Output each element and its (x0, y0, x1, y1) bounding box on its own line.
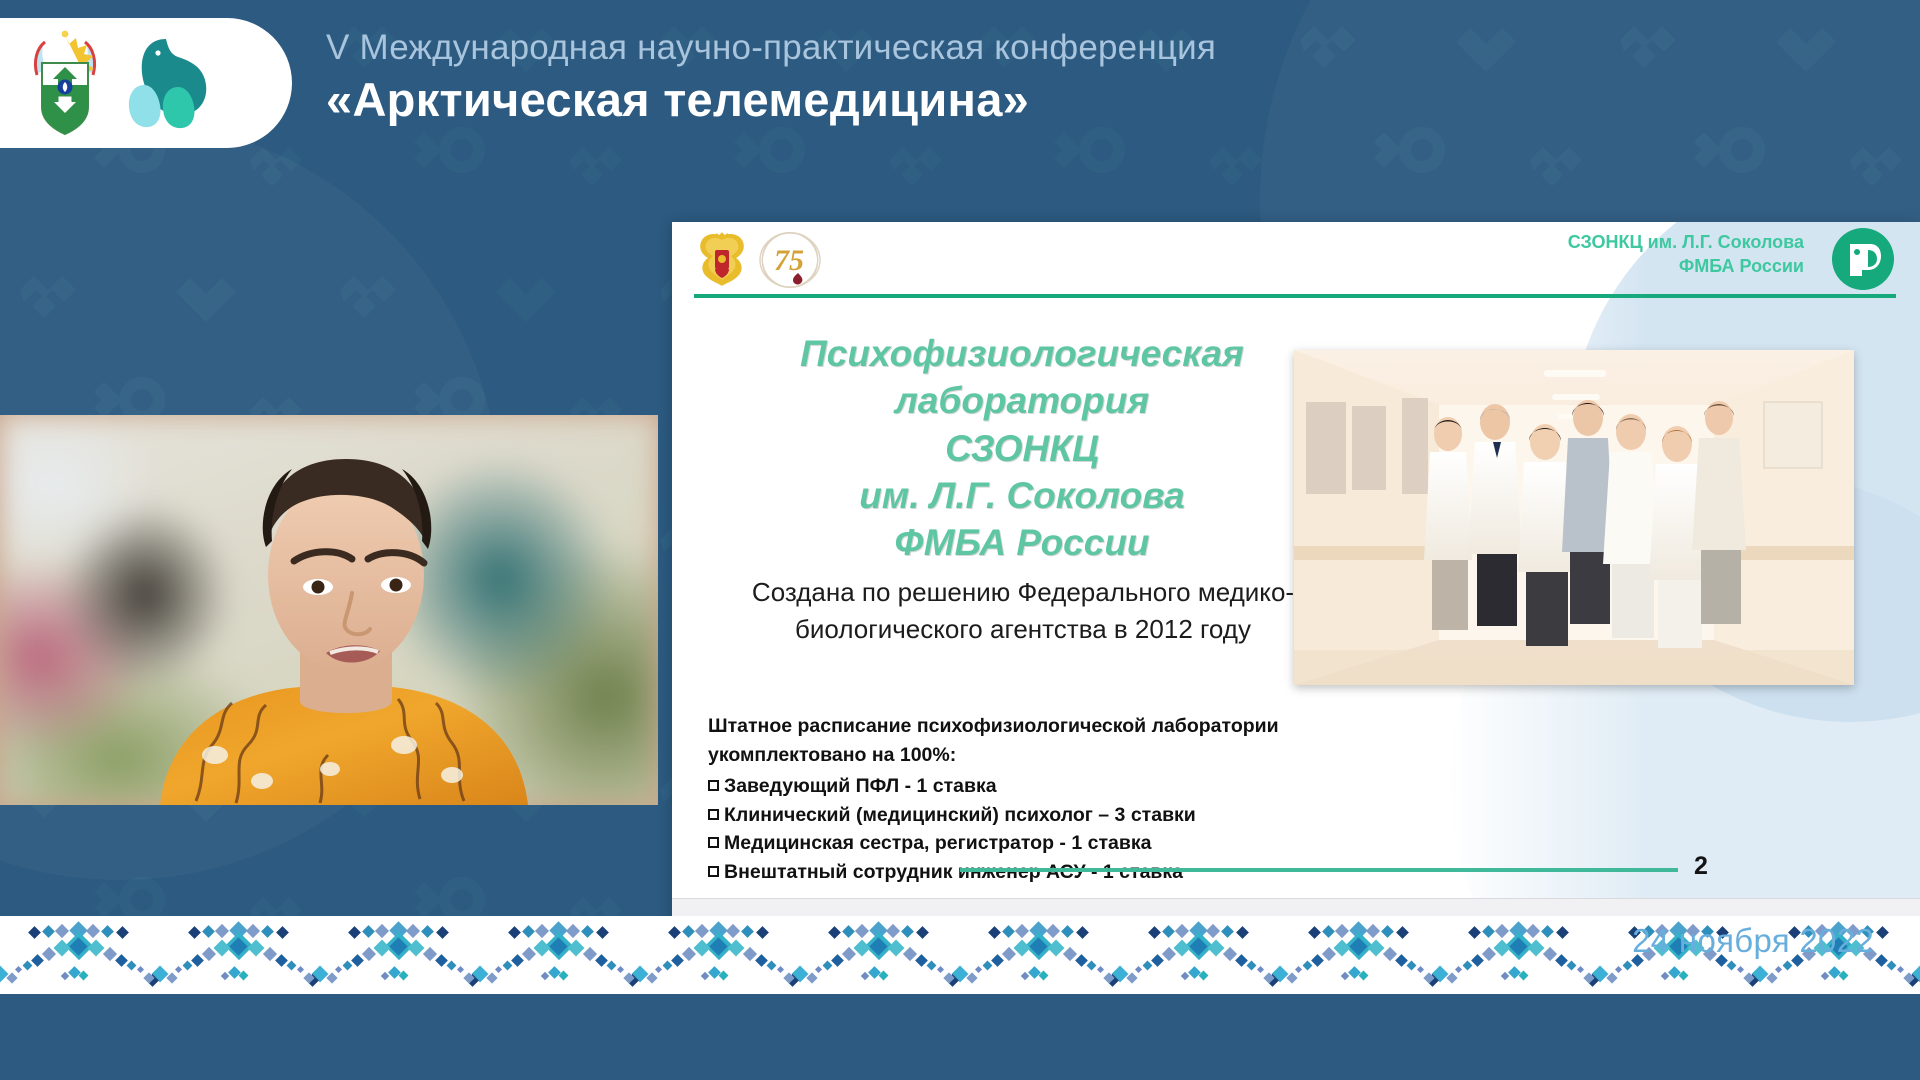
slide-subtitle: Создана по решению Федерального медико- … (708, 574, 1338, 648)
slide-org-line-1: СЗОНКЦ им. Л.Г. Соколова (1568, 230, 1804, 254)
slide-organization-name: СЗОНКЦ им. Л.Г. Соколова ФМБА России (1568, 230, 1804, 279)
presentation-slide[interactable]: 75 СЗОНКЦ им. Л.Г. Соколова ФМБА России (672, 222, 1920, 932)
staffing-item-label: Заведующий ПФЛ - 1 ставка (724, 772, 997, 801)
speaker-video-tile[interactable] (0, 415, 658, 805)
staffing-lead-line-2: укомплектовано на 100%: (708, 741, 1328, 770)
slide-staffing-block: Штатное расписание психофизиологической … (708, 712, 1328, 887)
conference-date: 24 ноября 2022 (1632, 922, 1874, 960)
slide-subtitle-line-1: Создана по решению Федерального медико- (708, 574, 1338, 611)
slide-footer-rule (960, 868, 1678, 872)
speaker-portrait (0, 415, 658, 805)
list-item: Клинический (медицинский) психолог – 3 с… (708, 801, 1328, 830)
75-years-anniversary-icon: 75 (754, 230, 826, 290)
broadcast-stage: V Международная научно-практическая конф… (0, 0, 1920, 1080)
staffing-lead-line-1: Штатное расписание психофизиологической … (708, 712, 1328, 741)
russian-federation-crest-icon (696, 230, 748, 288)
list-item: Внештатный сотрудник инженер АСУ - 1 ста… (708, 858, 1328, 887)
slide-org-line-2: ФМБА России (1568, 254, 1804, 278)
slide-title: Психофизиологическая лаборатория СЗОНКЦ … (712, 330, 1332, 567)
slide-title-line-1: Психофизиологическая (712, 330, 1332, 377)
square-bullet-icon (708, 780, 719, 791)
square-bullet-icon (708, 809, 719, 820)
conference-title: «Арктическая телемедицина» (326, 72, 1216, 128)
arctic-birds-logo-icon (122, 31, 218, 135)
logo-pill (0, 18, 292, 148)
list-item: Заведующий ПФЛ - 1 ставка (708, 772, 1328, 801)
footer-bar: 24 ноября 2022 (0, 994, 1920, 1080)
square-bullet-icon (708, 866, 719, 877)
slide-title-line-5: ФМБА России (712, 519, 1332, 566)
slide-page-number: 2 (1694, 852, 1708, 881)
staffing-item-label: Медицинская сестра, регистратор - 1 став… (724, 829, 1151, 858)
fmba-logo-icon (1832, 228, 1894, 290)
conference-title-block: V Международная научно-практическая конф… (326, 26, 1216, 128)
nenets-coat-of-arms-icon (26, 29, 104, 137)
staffing-item-label: Клинический (медицинский) психолог – 3 с… (724, 801, 1196, 830)
laboratory-staff-photo (1294, 350, 1854, 685)
svg-text:75: 75 (774, 244, 804, 277)
slide-title-line-4: им. Л.Г. Соколова (712, 472, 1332, 519)
slide-title-line-3: СЗОНКЦ (712, 425, 1332, 472)
slide-header-rule (694, 294, 1896, 298)
slide-subtitle-line-2: биологического агентства в 2012 году (708, 611, 1338, 648)
conference-banner: V Международная научно-практическая конф… (0, 0, 1920, 170)
list-item: Медицинская сестра, регистратор - 1 став… (708, 829, 1328, 858)
square-bullet-icon (708, 837, 719, 848)
conference-subtitle: V Международная научно-практическая конф… (326, 26, 1216, 70)
slide-title-line-2: лаборатория (712, 377, 1332, 424)
staffing-item-label: Внештатный сотрудник инженер АСУ - 1 ста… (724, 858, 1183, 887)
slide-header: 75 СЗОНКЦ им. Л.Г. Соколова ФМБА России (672, 222, 1920, 296)
